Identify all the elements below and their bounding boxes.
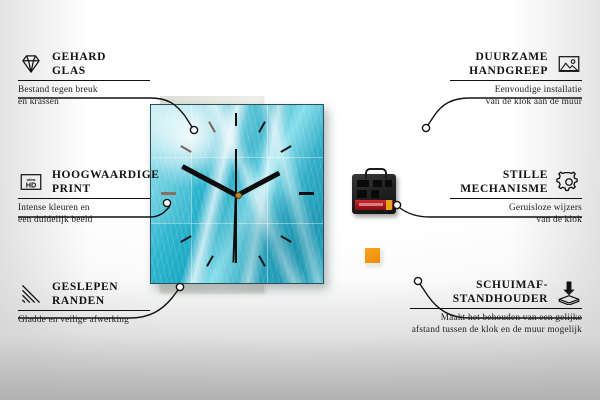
feature-title-line2: HANDGREEP	[469, 64, 548, 78]
spacer-arrow-icon	[556, 279, 582, 305]
feature-title-line1: STILLE	[460, 168, 548, 182]
foam-spacer-pad	[365, 248, 380, 263]
glass-clock	[150, 104, 324, 284]
infographic-canvas: GEHARD GLAS Bestand tegen breuk en krass…	[0, 0, 600, 400]
feature-desc-line1: Bestand tegen breuk	[18, 84, 150, 96]
feature-desc-line2: van de klok aan de muur	[450, 96, 582, 108]
feature-title-line1: DUURZAME	[469, 50, 548, 64]
feature-title-line1: SCHUIMAF-	[453, 278, 548, 292]
divider	[18, 310, 150, 311]
feature-title-line1: GEHARD	[52, 50, 106, 64]
feature-title-line2: MECHANISME	[460, 182, 548, 196]
feature-desc-line1: Gladde en veilige afwerking	[18, 314, 150, 326]
svg-text:HD: HD	[26, 180, 37, 189]
feature-title-line2: STANDHOUDER	[453, 292, 548, 306]
diamond-icon	[18, 51, 44, 77]
battery	[355, 200, 393, 210]
feature-geslepen-randen[interactable]: GESLEPEN RANDEN Gladde en veilige afwerk…	[18, 280, 150, 326]
divider	[18, 80, 150, 81]
bevelled-edge-icon	[18, 281, 44, 307]
feature-gehard-glas[interactable]: GEHARD GLAS Bestand tegen breuk en krass…	[18, 50, 150, 109]
feature-title-line2: GLAS	[52, 64, 106, 78]
divider	[18, 198, 150, 199]
hour-hand	[236, 171, 281, 198]
feature-desc-line2: een duidelijk beeld	[18, 214, 150, 226]
feature-desc-line1: Geruisloze wijzers	[450, 202, 582, 214]
feature-desc-line2: van de klok	[450, 214, 582, 226]
feature-desc-line1: Intense kleuren en	[18, 202, 150, 214]
divider	[450, 80, 582, 81]
feature-desc-line2: en krassen	[18, 96, 150, 108]
product-photo	[150, 104, 330, 290]
picture-frame-icon	[556, 51, 582, 77]
feature-title-line1: HOOGWAARDIGE	[52, 168, 160, 182]
feature-duurzame-handgreep[interactable]: DUURZAME HANDGREEP Eenvoudige installati…	[450, 50, 582, 109]
feature-desc-line2: afstand tussen de klok en de muur mogeli…	[410, 324, 582, 336]
feature-stille-mechanisme[interactable]: STILLE MECHANISME Geruisloze wijzers van…	[450, 168, 582, 227]
feature-desc-line1: Eenvoudige installatie	[450, 84, 582, 96]
divider	[410, 308, 582, 309]
clock-hub	[235, 192, 242, 199]
divider	[450, 198, 582, 199]
ultra-hd-icon: ultra HD	[18, 169, 44, 195]
feature-schuimafstandhouder[interactable]: SCHUIMAF- STANDHOUDER Maakt het behouden…	[410, 278, 582, 337]
feature-title-line1: GESLEPEN	[52, 280, 118, 294]
gear-icon	[556, 169, 582, 195]
feature-desc-line1: Maakt het behouden van een gelijke	[410, 312, 582, 324]
feature-title-line2: RANDEN	[52, 294, 118, 308]
clock-mechanism	[352, 174, 396, 214]
feature-hoogwaardige-print[interactable]: ultra HD HOOGWAARDIGE PRINT Intense kleu…	[18, 168, 150, 227]
feature-title-line2: PRINT	[52, 182, 160, 196]
